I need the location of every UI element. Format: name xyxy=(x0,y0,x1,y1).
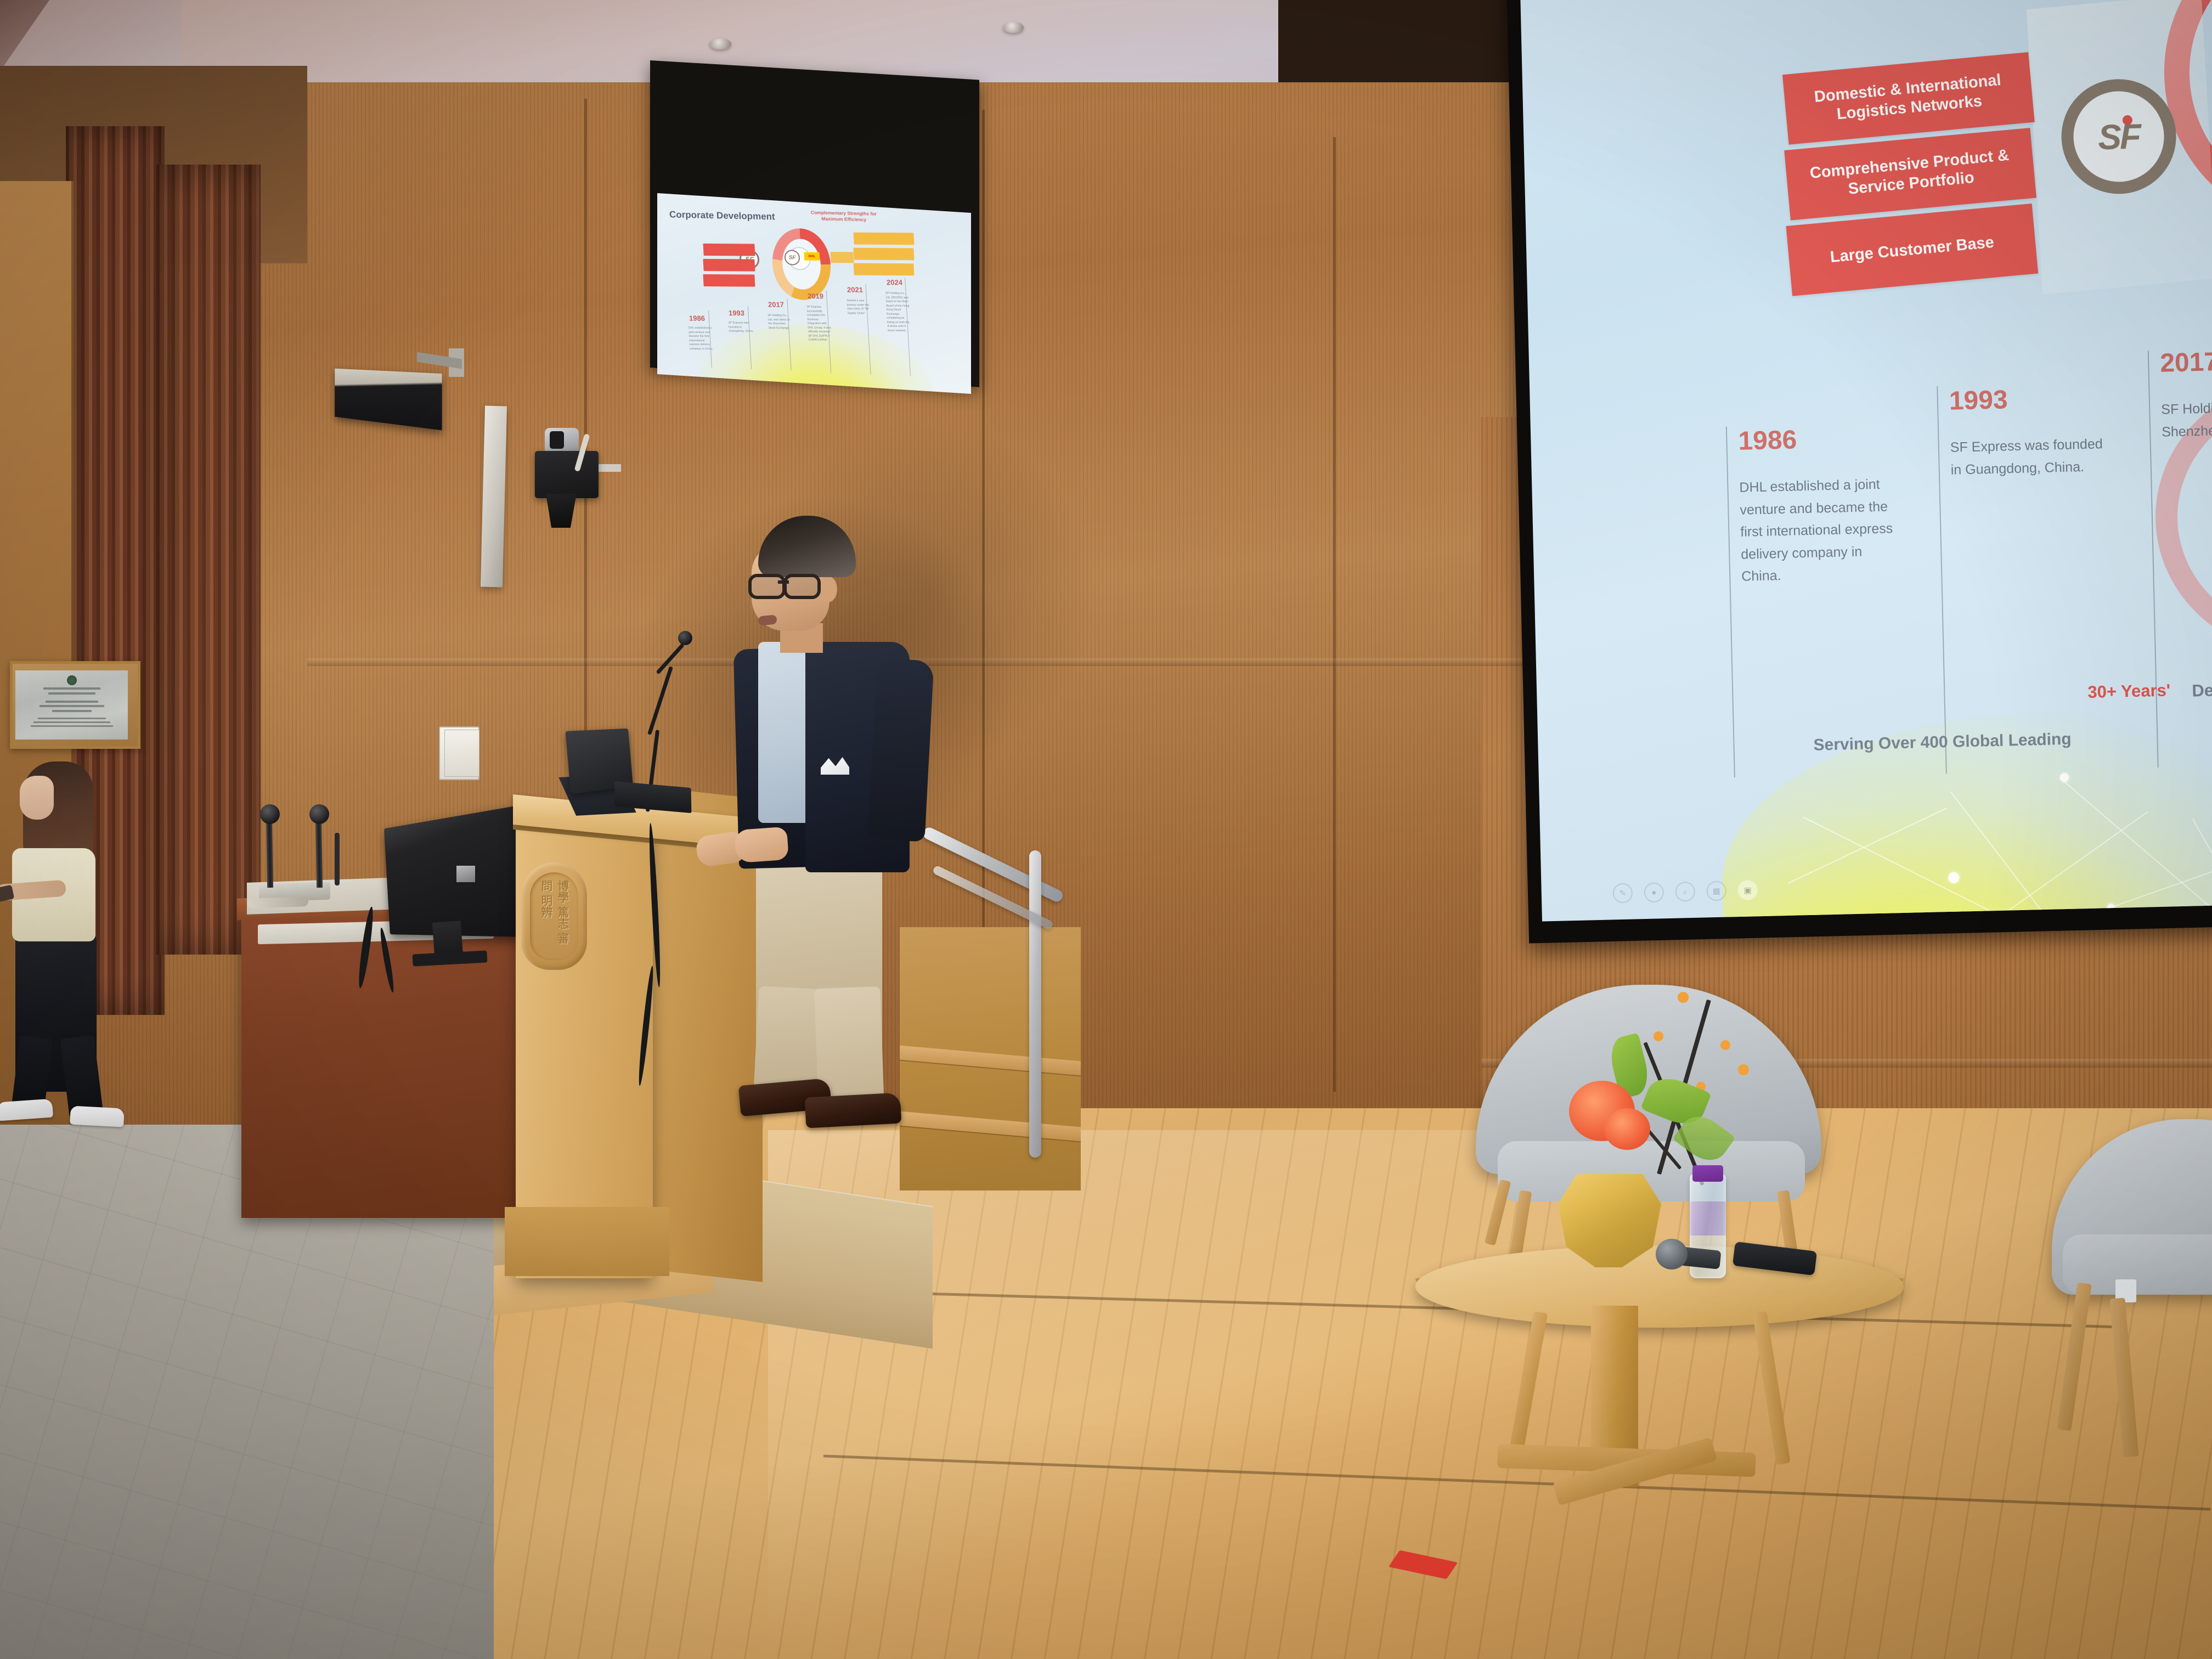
network-line xyxy=(1960,811,2148,922)
timeline-text: SF Express was founded in Guangdong, Chi… xyxy=(1950,433,2108,481)
side-timeline-year: 1986 xyxy=(689,314,706,322)
attendant-person xyxy=(0,752,165,1141)
side-slide-title: Corporate Development xyxy=(669,209,775,222)
plaque-text-line xyxy=(52,710,92,712)
plaque-text-line xyxy=(46,701,98,703)
attendant-face xyxy=(20,776,54,820)
flower-berry xyxy=(1738,1064,1749,1075)
timeline-year: 2017 xyxy=(2160,347,2212,379)
camera-icon[interactable]: ▣ xyxy=(1737,880,1758,900)
speaker-hair xyxy=(758,516,856,577)
side-timeline-year: 2019 xyxy=(808,292,824,300)
speaker-arm xyxy=(867,658,934,842)
side-timeline-text: SF Express successfully completed the bu… xyxy=(806,305,834,342)
slide-stat-suffix: De xyxy=(2192,681,2212,701)
plaque-text-line xyxy=(31,725,113,727)
speaker-hand-right xyxy=(734,827,789,864)
ptz-camera-body xyxy=(535,451,599,498)
ceiling-spotlight xyxy=(709,38,731,49)
side-slide-subtitle: Complementary Strengths for Maximum Effi… xyxy=(811,210,877,223)
side-slide-yellow-label xyxy=(830,252,854,263)
dhl-logo-icon: DHL xyxy=(804,252,820,261)
network-line xyxy=(2060,777,2210,907)
av-cart-tray xyxy=(248,896,308,909)
attendant-shoe-front xyxy=(70,1105,125,1127)
speaker-glasses-icon xyxy=(748,574,821,592)
plaque-text-line xyxy=(43,687,100,690)
timeline-rule xyxy=(1937,386,1947,774)
flower-berry xyxy=(1720,1040,1730,1050)
wall-outlet-plate xyxy=(444,730,479,777)
microphone-head[interactable] xyxy=(260,804,280,824)
timeline-text: SF Holding was listed Shenzhen Exchange xyxy=(2161,396,2212,443)
line-array-speaker xyxy=(481,406,507,588)
plaque-text-line xyxy=(33,721,110,723)
stair-handrail-post xyxy=(1029,850,1041,1158)
sf-logo-text: SF xyxy=(2097,116,2140,157)
handheld-microphone-head[interactable] xyxy=(1656,1239,1688,1269)
pen-icon[interactable]: ✎ xyxy=(1612,883,1633,904)
ceiling-spotlight xyxy=(1003,22,1024,33)
side-slide-red-label xyxy=(703,274,755,287)
timeline-year: 1986 xyxy=(1738,425,1797,456)
plaque-text-line xyxy=(38,718,106,719)
side-timeline-year: 2021 xyxy=(847,286,864,294)
timeline-rule xyxy=(2148,351,2159,768)
side-timeline-text: SF Holding Co., Ltd. was listed on the S… xyxy=(768,314,794,331)
network-node xyxy=(1948,872,1959,883)
network-line xyxy=(1950,791,2051,921)
glasses-lens-left xyxy=(748,574,786,599)
powerpoint-control-bar[interactable]: ✎ ● ⌕ ▦ ▣ xyxy=(1612,880,1758,903)
slide-stat-highlight: 30+ Years' xyxy=(2087,680,2171,702)
side-timeline-text: SF Express was founded in Guangdong, Chi… xyxy=(728,321,754,334)
speaker-ear xyxy=(819,576,837,602)
flower-berry xyxy=(1654,1031,1663,1041)
water-bottle-cap[interactable] xyxy=(1692,1165,1723,1182)
plaque-text-line xyxy=(39,705,104,707)
side-timeline-year: 2024 xyxy=(887,278,903,286)
side-slide-red-label xyxy=(703,244,755,256)
speaker-shoe-right xyxy=(805,1092,902,1128)
microphone-stem xyxy=(266,819,273,888)
side-slide-yellow-label xyxy=(853,248,914,261)
side-slide-yellow-label xyxy=(853,233,914,245)
side-projection-screen: Corporate Development Complementary Stre… xyxy=(657,193,971,394)
network-node xyxy=(2060,773,2069,782)
wall-plaque xyxy=(15,670,128,740)
glasses-bridge xyxy=(778,580,789,584)
main-projection-screen: Corpo Domestic & International Logistics… xyxy=(1520,0,2212,922)
side-slide-yellow-label xyxy=(853,263,914,276)
laser-pointer-icon[interactable]: ● xyxy=(1644,882,1664,902)
glasses-lens-right xyxy=(783,574,821,599)
speaker-person xyxy=(708,516,944,1136)
monitor-label-sticker xyxy=(456,866,475,882)
camera-lens-icon xyxy=(550,431,564,449)
side-timeline-text: Started a new journey under the new name… xyxy=(847,299,873,316)
network-line xyxy=(1788,808,1947,883)
timeline-rule xyxy=(1726,426,1735,777)
side-slide-red-label xyxy=(703,259,755,272)
attendant-shoe-back xyxy=(0,1099,53,1121)
side-timeline-year: 2017 xyxy=(768,301,785,309)
flower-bloom xyxy=(1604,1108,1650,1150)
gooseneck-mic-head[interactable] xyxy=(678,631,692,645)
side-timeline-text: DHL established a joint venture and beca… xyxy=(689,326,715,352)
microphone-head[interactable] xyxy=(309,804,329,824)
side-timeline-text: SF Holding Co., Ltd. (002352) was listed… xyxy=(885,292,913,334)
flower-berry xyxy=(1678,992,1689,1003)
timeline-text: DHL established a joint venture and beca… xyxy=(1739,473,1906,588)
conference-hall-photo: Corporate Development Complementary Stre… xyxy=(0,0,2212,1659)
slide-banner: Large Customer Base xyxy=(1786,204,2038,296)
wall-panel-seam xyxy=(1333,137,1336,1092)
timeline-year: 1993 xyxy=(1949,385,2008,416)
university-seal-icon xyxy=(67,675,77,685)
podium-base xyxy=(505,1207,669,1276)
antenna-icon xyxy=(335,833,340,885)
plaque-text-line xyxy=(48,692,95,695)
podium-crest: 博學 篤志 審問 明辨 xyxy=(521,862,587,970)
network-line xyxy=(2107,836,2212,909)
side-timeline-year: 1993 xyxy=(729,309,745,317)
all-slides-icon[interactable]: ▦ xyxy=(1706,881,1726,901)
podium-crest-characters: 博學 篤志 審問 明辨 xyxy=(530,872,578,960)
stage-curtain-center xyxy=(156,165,261,955)
microphone-stem xyxy=(315,819,323,888)
zoom-icon[interactable]: ⌕ xyxy=(1675,882,1695,902)
